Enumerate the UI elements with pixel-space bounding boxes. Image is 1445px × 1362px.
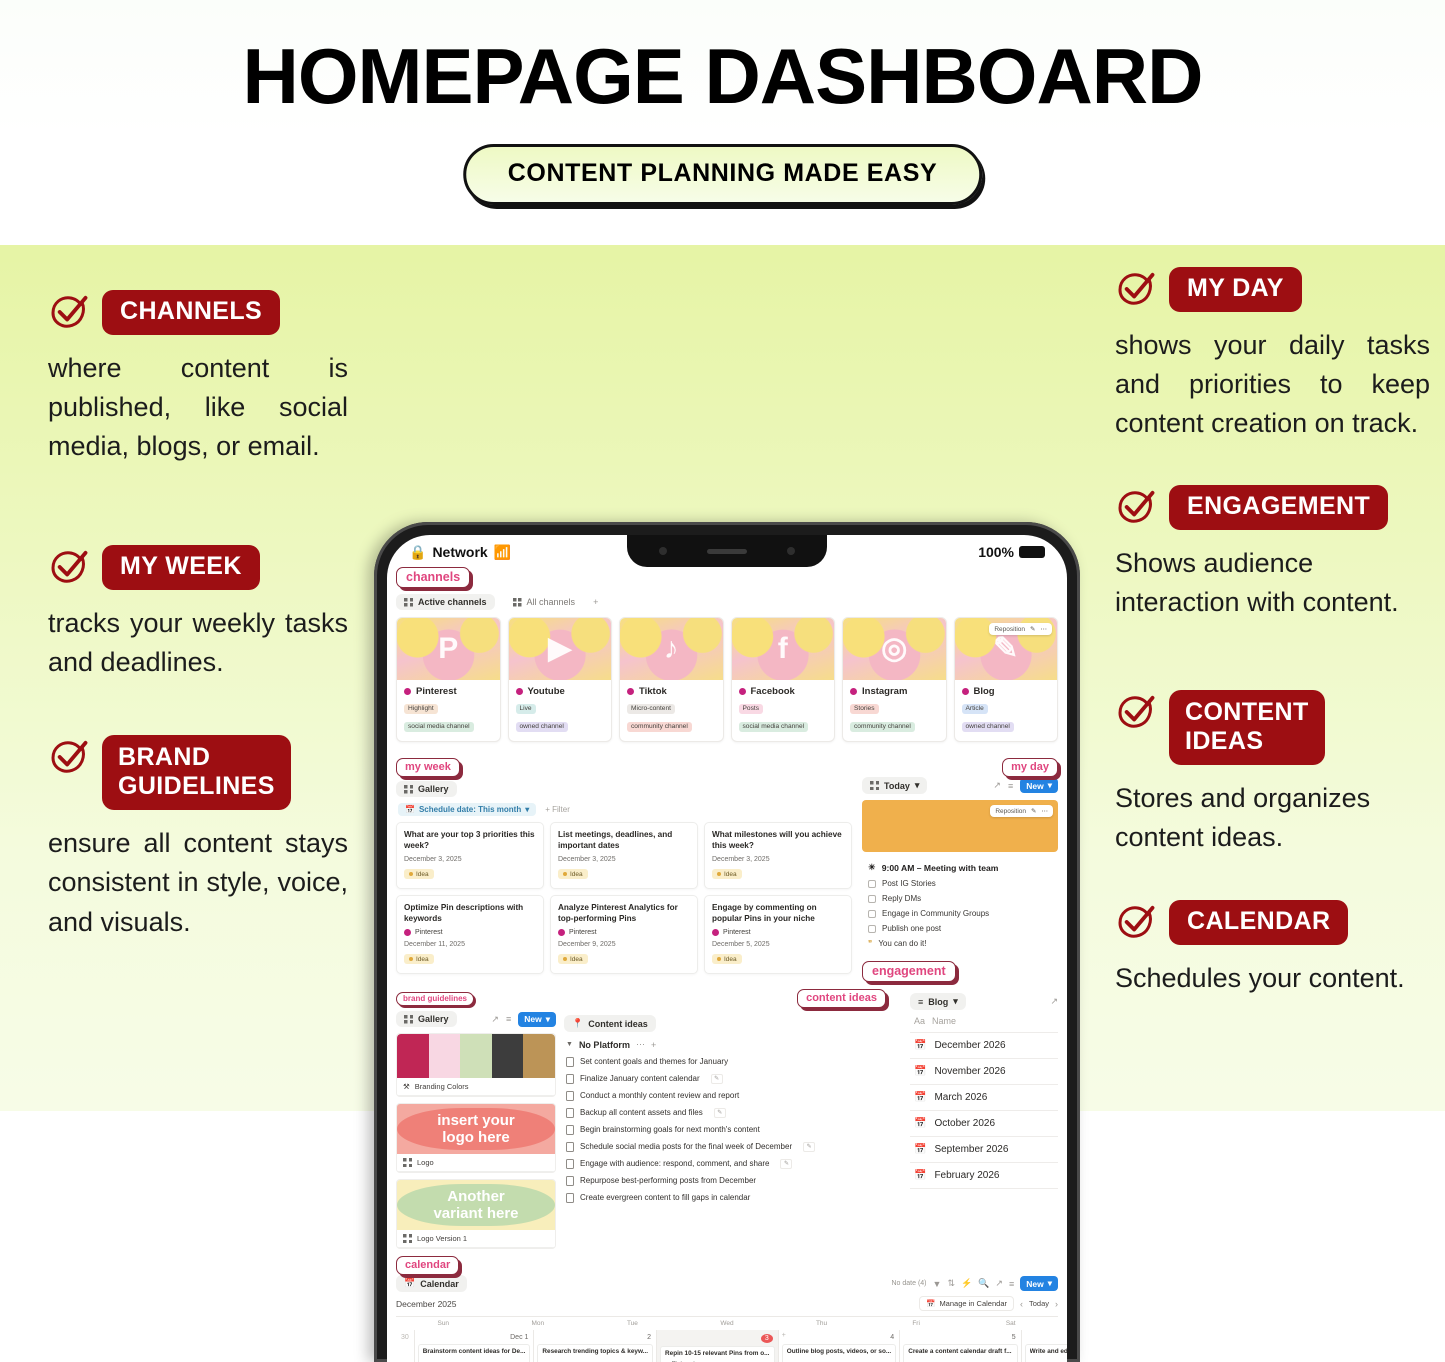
blog-section: ≡ Blog ▾ ↗ Aa Name 📅December 2026📅Novemb… — [910, 988, 1058, 1249]
channel-name: Tiktok — [639, 686, 667, 697]
calendar-grid: SunMonTueWedThuFriSat 30Dec 1 Brainstorm… — [396, 1316, 1058, 1362]
channels-tabbar: Active channels All channels + — [396, 594, 1058, 610]
calendar-event[interactable]: Brainstorm content ideas for De... Idea — [418, 1344, 531, 1362]
content-idea-item[interactable]: Repurpose best-performing posts from Dec… — [566, 1172, 902, 1189]
branding-colors-label: ⚒ Branding Colors — [397, 1078, 555, 1096]
task-card[interactable]: What are your top 3 priorities this week… — [396, 822, 544, 889]
my-week-task-grid: What are your top 3 priorities this week… — [396, 822, 854, 974]
sensor-icon — [787, 547, 795, 555]
feature-engagement: ENGAGEMENT Shows audience interaction wi… — [1115, 485, 1430, 622]
calendar-day-cell[interactable]: 6 Write and edit 2 blog posts or ar... I… — [1022, 1330, 1067, 1362]
new-button-label: New — [1026, 781, 1043, 791]
idea-title: Backup all content assets and files — [580, 1108, 703, 1117]
day-todo-item[interactable]: Post IG Stories — [868, 876, 1052, 891]
event-title: Outline blog posts, videos, or so... — [787, 1348, 891, 1356]
carrier-label: Network — [432, 544, 487, 560]
task-status-badge: Idea — [712, 869, 742, 879]
expand-icon[interactable]: ↗ — [993, 780, 1001, 791]
column-header-label: Name — [932, 1016, 956, 1026]
feature-description: Shows audience interaction with content. — [1115, 544, 1430, 623]
task-title: What are your top 3 priorities this week… — [404, 829, 536, 851]
status-dot-icon — [409, 957, 413, 961]
channel-card[interactable]: ♪ Tiktok Micro-content community channel — [619, 617, 724, 742]
view-calendar[interactable]: 📅 Calendar — [396, 1275, 467, 1292]
add-event-icon[interactable]: + — [782, 1332, 786, 1339]
add-view-icon[interactable]: + — [593, 597, 598, 607]
feature-header: ENGAGEMENT — [1115, 485, 1430, 530]
page-icon — [566, 1091, 574, 1101]
calendar-day-number: 2 — [537, 1333, 653, 1344]
logo-variant-card[interactable]: Another variant here Logo Version 1 — [396, 1179, 556, 1249]
task-title: Optimize Pin descriptions with keywords — [404, 902, 536, 924]
new-button-my-day[interactable]: New ▾ — [1020, 778, 1058, 793]
channel-name-row: Facebook — [739, 686, 828, 697]
prev-period-icon[interactable]: ‹ — [1020, 1299, 1023, 1309]
pencil-icon[interactable]: ✎ — [711, 1074, 723, 1084]
my-week-filterbar: 📅 Schedule date: This month ▾ + Filter — [396, 803, 854, 816]
search-icon[interactable]: 🔍 — [978, 1278, 989, 1289]
grid-icon — [403, 1158, 412, 1167]
pencil-icon[interactable]: ✎ — [803, 1142, 815, 1152]
channel-chip-type: Micro-content — [627, 704, 675, 714]
check-circle-icon — [48, 292, 88, 332]
calendar-dow-label: Wed — [680, 1317, 775, 1330]
expand-icon[interactable]: ↗ — [491, 1014, 499, 1025]
calendar-subheader: December 2025 📅 Manage in Calendar ‹ Tod… — [396, 1296, 1058, 1311]
check-circle-icon — [1115, 902, 1155, 942]
palette-swatch — [397, 1034, 429, 1078]
feature-tag: MY DAY — [1169, 267, 1302, 312]
view-gallery-brand[interactable]: Gallery — [396, 1011, 457, 1027]
calendar-day-number: 30 — [399, 1333, 411, 1344]
feature-header: CONTENTIDEAS — [1115, 690, 1430, 765]
instagram-icon: ◎ — [881, 634, 907, 664]
checkbox-icon[interactable] — [868, 895, 876, 903]
calendar-day-cell[interactable]: 2 Research trending topics & keyw... Ide… — [534, 1330, 657, 1362]
channel-meta: Blog Article owned channel — [955, 680, 1058, 741]
row-title: October 2026 — [934, 1118, 995, 1129]
channel-name: Pinterest — [416, 686, 457, 697]
channel-chip-type: Live — [516, 704, 536, 714]
status-dot-icon — [627, 688, 634, 695]
channel-chip-type: Stories — [850, 704, 879, 714]
calendar-dow-header: SunMonTueWedThuFriSat — [396, 1317, 1058, 1330]
content-idea-item[interactable]: Begin brainstorming goals for next month… — [566, 1121, 902, 1138]
content-idea-item[interactable]: Conduct a monthly content review and rep… — [566, 1087, 902, 1104]
tab-label: All channels — [527, 597, 576, 607]
battery-percent-label: 100% — [978, 544, 1014, 560]
logo-placeholder-text: insert your logo here — [397, 1108, 555, 1151]
facebook-icon: f — [778, 634, 788, 664]
my-day-section: my day Today ▾ ↗ ≡ — [862, 751, 1058, 982]
platform-name: Pinterest — [723, 929, 751, 936]
feature-description: Stores and organizes content ideas. — [1115, 779, 1430, 858]
feature-tag: CHANNELS — [102, 290, 280, 335]
calendar-day-number: 3 — [660, 1333, 775, 1346]
content-idea-item[interactable]: Set content goals and themes for January — [566, 1053, 902, 1070]
day-todo-item[interactable]: Engage in Community Groups — [868, 906, 1052, 921]
tag-line: BRAND — [118, 743, 275, 772]
calendar-icon: 📅 — [405, 805, 415, 814]
new-button-label: New — [524, 1014, 541, 1024]
channel-meta: Facebook Posts social media channel — [732, 680, 835, 741]
page-title: HOMEPAGE DASHBOARD — [0, 36, 1445, 118]
feature-tag: CALENDAR — [1169, 900, 1348, 945]
view-label: Gallery — [418, 784, 449, 794]
sort-icon[interactable]: ≡ — [1008, 781, 1013, 791]
logo-card[interactable]: insert your logo here Logo — [396, 1103, 556, 1173]
sticker-my-day: my day — [1002, 758, 1058, 777]
checkbox-icon[interactable] — [868, 910, 876, 918]
platform-dot-icon — [712, 929, 719, 936]
expand-icon[interactable]: ↗ — [995, 1278, 1003, 1289]
day-todo-item[interactable]: Reply DMs — [868, 891, 1052, 906]
calendar-icon: 📅 — [914, 1040, 926, 1051]
channel-card[interactable]: ✎ Reposition ✎ ⋯ Blog Article owned chan… — [954, 617, 1059, 742]
location-pin-icon: 📍 — [572, 1018, 583, 1029]
check-circle-icon — [48, 547, 88, 587]
calendar-day-number: 4 — [782, 1333, 896, 1344]
task-date: December 5, 2025 — [712, 941, 844, 948]
idea-title: Finalize January content calendar — [580, 1074, 700, 1083]
calendar-dow-label: Thu — [774, 1317, 869, 1330]
calendar-event[interactable]: Create a content calendar draft f... Ide… — [903, 1344, 1017, 1362]
channel-card[interactable]: ◎ Instagram Stories community channel — [842, 617, 947, 742]
group-label: No Platform — [579, 1040, 630, 1050]
status-dot-icon — [717, 872, 721, 876]
manage-in-calendar-button[interactable]: 📅 Manage in Calendar — [919, 1296, 1014, 1311]
grid-icon — [404, 1015, 413, 1024]
channel-chip-category: social media channel — [739, 722, 809, 732]
day-heading: ☀9:00 AM – Meeting with team — [868, 859, 1052, 876]
chevron-down-icon: ▾ — [1048, 1278, 1052, 1289]
palette-swatch — [429, 1034, 461, 1078]
blog-row[interactable]: 📅October 2026 — [910, 1111, 1058, 1137]
content-idea-item[interactable]: Backup all content assets and files✎ — [566, 1104, 902, 1121]
page-icon — [566, 1159, 574, 1169]
calendar-week-row: 30Dec 1 Brainstorm content ideas for De.… — [396, 1330, 1058, 1362]
channel-card[interactable]: P Pinterest Highlight social media chann… — [396, 617, 501, 742]
status-dot-icon — [404, 688, 411, 695]
pencil-icon[interactable]: ✎ — [1030, 625, 1035, 633]
view-label: Calendar — [420, 1279, 459, 1289]
expand-icon[interactable]: ↗ — [1050, 996, 1058, 1007]
calendar-day-cell[interactable]: +4 Outline blog posts, videos, or so... … — [779, 1330, 900, 1362]
status-dot-icon — [516, 688, 523, 695]
reposition-control[interactable]: Reposition ✎ ⋯ — [990, 805, 1053, 817]
grid-icon — [513, 598, 522, 607]
feature-calendar: CALENDAR Schedules your content. — [1115, 900, 1430, 998]
blog-row[interactable]: 📅March 2026 — [910, 1085, 1058, 1111]
task-title: List meetings, deadlines, and important … — [558, 829, 690, 851]
pencil-icon[interactable]: ✎ — [714, 1108, 726, 1118]
tag-line: GUIDELINES — [118, 772, 275, 801]
content-ideas-list: Set content goals and themes for January… — [564, 1053, 902, 1206]
feature-my-day: MY DAY shows your daily tasks and priori… — [1115, 267, 1430, 444]
tag-line: CONTENT — [1185, 698, 1309, 727]
channel-name-row: Youtube — [516, 686, 605, 697]
feature-tag: MY WEEK — [102, 545, 260, 590]
status-dot-icon — [563, 957, 567, 961]
blog-rows: 📅December 2026📅November 2026📅March 2026📅… — [910, 1033, 1058, 1189]
idea-title: Begin brainstorming goals for next month… — [580, 1125, 760, 1134]
calendar-icon: 📅 — [914, 1066, 926, 1077]
sticker-brand-guidelines: brand guidelines — [396, 992, 474, 1007]
add-filter-button[interactable]: + Filter — [545, 805, 570, 814]
task-status-badge: Idea — [558, 954, 588, 964]
more-options-icon[interactable]: ⋯ — [1041, 625, 1048, 633]
feature-description: Schedules your content. — [1115, 959, 1430, 998]
chevron-down-icon: ▾ — [915, 780, 920, 791]
calendar-dow-label: Tue — [585, 1317, 680, 1330]
sun-icon: ☀ — [868, 862, 876, 873]
pencil-icon[interactable]: ✎ — [780, 1159, 792, 1169]
status-dot-icon — [850, 688, 857, 695]
day-todo-item[interactable]: Publish one post — [868, 921, 1052, 936]
content-ideas-group-header[interactable]: ▼ No Platform ⋯ + — [564, 1039, 902, 1050]
task-card[interactable]: Analyze Pinterest Analytics for top-perf… — [550, 895, 698, 974]
main-panel: CHANNELS where content is published, lik… — [0, 245, 1445, 1111]
row-title: September 2026 — [934, 1144, 1008, 1155]
item-label: Reply DMs — [882, 894, 921, 903]
status-dot-icon — [717, 957, 721, 961]
channel-meta: Pinterest Highlight social media channel — [397, 680, 500, 741]
calendar-day-cell[interactable]: Dec 1 Brainstorm content ideas for De...… — [415, 1330, 535, 1362]
page-icon — [566, 1125, 574, 1135]
next-period-icon[interactable]: › — [1055, 1299, 1058, 1309]
my-day-checklist: ☀9:00 AM – Meeting with teamPost IG Stor… — [862, 852, 1058, 957]
check-circle-icon — [48, 737, 88, 777]
calendar-toolbar: 📅 Calendar No date (4) ▼ ⇅ ⚡ 🔍 ↗ ≡ — [396, 1275, 1058, 1292]
feature-my-week: MY WEEK tracks your weekly tasks and dea… — [48, 545, 348, 682]
sticker-channels: channels — [396, 567, 470, 588]
filter-schedule-date[interactable]: 📅 Schedule date: This month ▾ — [398, 803, 536, 816]
idea-title: Engage with audience: respond, comment, … — [580, 1159, 769, 1168]
page-icon — [566, 1074, 574, 1084]
blog-column-header: Aa Name — [910, 1010, 1058, 1033]
calendar-event[interactable]: Repin 10-15 relevant Pins from o... Pint… — [660, 1346, 775, 1362]
calendar-dow-label: Sun — [396, 1317, 491, 1330]
tab-active-channels[interactable]: Active channels — [396, 594, 495, 610]
palette-swatch — [492, 1034, 524, 1078]
task-card[interactable]: List meetings, deadlines, and important … — [550, 822, 698, 889]
status-dot-icon — [563, 872, 567, 876]
channel-meta: Youtube Live owned channel — [509, 680, 612, 741]
grid-icon — [404, 598, 413, 607]
channel-card[interactable]: ▶ Youtube Live owned channel — [508, 617, 613, 742]
lock-icon: 🔒 — [409, 544, 426, 561]
channel-cover: ▶ — [509, 618, 612, 680]
grid-icon — [403, 1234, 412, 1243]
event-title: Research trending topics & keyw... — [542, 1348, 648, 1356]
add-item-icon[interactable]: + — [651, 1040, 656, 1050]
quote-icon: ❞ — [868, 939, 872, 948]
channel-chip-category: social media channel — [404, 722, 474, 732]
task-card[interactable]: What milestones will you achieve this we… — [704, 822, 852, 889]
reposition-control[interactable]: Reposition ✎ ⋯ — [989, 623, 1052, 635]
blog-icon: ✎ — [993, 634, 1018, 664]
channel-cover: ✎ Reposition ✎ ⋯ — [955, 618, 1058, 680]
platform-name: Pinterest — [415, 929, 443, 936]
new-button-brand[interactable]: New ▾ — [518, 1012, 556, 1027]
label-text: Branding Colors — [415, 1082, 469, 1091]
calendar-icon: 📅 — [926, 1299, 935, 1308]
logo-version-label: Logo Version 1 — [397, 1230, 555, 1248]
calendar-dow-label: Fri — [869, 1317, 964, 1330]
blog-row[interactable]: 📅December 2026 — [910, 1033, 1058, 1059]
sticker-my-week: my week — [396, 758, 460, 777]
blog-row[interactable]: 📅February 2026 — [910, 1163, 1058, 1189]
tab-all-channels[interactable]: All channels — [505, 594, 584, 610]
content-idea-item[interactable]: Engage with audience: respond, comment, … — [566, 1155, 902, 1172]
content-idea-item[interactable]: Create evergreen content to fill gaps in… — [566, 1189, 902, 1206]
branding-colors-card[interactable]: ⚒ Branding Colors — [396, 1033, 556, 1097]
calendar-day-cell[interactable]: 5 Create a content calendar draft f... I… — [900, 1330, 1021, 1362]
channel-chip-type: Highlight — [404, 704, 438, 714]
label-text: Logo — [417, 1158, 434, 1167]
chevron-down-icon: ▾ — [546, 1014, 550, 1025]
my-week-section: my week Gallery 📅 Schedule date: This — [396, 751, 854, 982]
feature-header: MY WEEK — [48, 545, 348, 590]
reposition-label: Reposition — [994, 626, 1025, 633]
sort-icon[interactable]: ⇅ — [947, 1278, 955, 1289]
calendar-event[interactable]: Research trending topics & keyw... Idea — [537, 1344, 653, 1362]
checkbox-icon[interactable] — [868, 880, 876, 888]
event-title: Write and edit 2 blog posts or ar... — [1030, 1348, 1067, 1356]
blog-row[interactable]: 📅September 2026 — [910, 1137, 1058, 1163]
channel-cover: ♪ — [620, 618, 723, 680]
calendar-icon: 📅 — [914, 1118, 926, 1129]
content-idea-item[interactable]: Finalize January content calendar✎ — [566, 1070, 902, 1087]
logo-placeholder-variant: Another variant here — [397, 1180, 555, 1230]
blog-row[interactable]: 📅November 2026 — [910, 1059, 1058, 1085]
platform-dot-icon — [558, 929, 565, 936]
calendar-day-cell[interactable]: 3 Repin 10-15 relevant Pins from o... Pi… — [657, 1330, 779, 1362]
task-platform: Pinterest — [404, 929, 536, 936]
calendar-day-number: 5 — [903, 1333, 1017, 1344]
row-title: November 2026 — [934, 1066, 1005, 1077]
content-ideas-section: content ideas 📍 Content ideas ▼ No Platf… — [564, 988, 902, 1249]
channel-chip-category: owned channel — [962, 722, 1014, 732]
calendar-icon: 📅 — [404, 1278, 415, 1289]
calendar-icon: 📅 — [914, 1144, 926, 1155]
channel-chip-type: Article — [962, 704, 988, 714]
brand-toolbar: Gallery ↗ ≡ New ▾ — [396, 1011, 556, 1027]
platform-dot-icon — [404, 929, 411, 936]
view-label: Blog — [928, 997, 948, 1007]
new-button-calendar[interactable]: New ▾ — [1020, 1276, 1058, 1291]
brand-guidelines-section: brand guidelines Gallery ↗ ≡ New — [396, 988, 556, 1249]
sticker-calendar: calendar — [396, 1256, 459, 1275]
youtube-icon: ▶ — [548, 634, 571, 664]
feature-description: tracks your weekly tasks and deadlines. — [48, 604, 348, 683]
view-label: Gallery — [418, 1014, 449, 1024]
page-icon — [566, 1142, 574, 1152]
filter-icon[interactable]: ▼ — [933, 1279, 942, 1289]
logo-placeholder-primary: insert your logo here — [397, 1104, 555, 1154]
channel-name: Facebook — [751, 686, 795, 697]
item-label: Publish one post — [882, 924, 941, 933]
chevron-down-icon: ▾ — [1048, 780, 1052, 791]
task-platform: Pinterest — [558, 929, 690, 936]
feature-header: CHANNELS — [48, 290, 348, 335]
calendar-event[interactable]: Write and edit 2 blog posts or ar... Ide… — [1025, 1344, 1067, 1362]
status-dot-icon — [739, 688, 746, 695]
status-dot-icon — [962, 688, 969, 695]
logo-label: Logo — [397, 1154, 555, 1172]
grid-icon — [870, 781, 879, 790]
logo-variant-text: Another variant here — [397, 1184, 555, 1227]
filter-label: Schedule date: This month — [419, 805, 521, 814]
earpiece-speaker-icon — [707, 549, 747, 554]
channel-name: Youtube — [528, 686, 565, 697]
more-options-icon[interactable]: ⋯ — [636, 1039, 645, 1050]
view-gallery-my-week[interactable]: Gallery — [396, 781, 457, 797]
no-date-label[interactable]: No date (4) — [891, 1280, 926, 1287]
page-icon — [566, 1108, 574, 1118]
my-day-toolbar: Today ▾ ↗ ≡ New ▾ — [862, 777, 1058, 794]
lower-section: brand guidelines Gallery ↗ ≡ New — [396, 988, 1058, 1249]
idea-title: Create evergreen content to fill gaps in… — [580, 1193, 750, 1202]
channel-name-row: Pinterest — [404, 686, 493, 697]
task-date: December 11, 2025 — [404, 941, 536, 948]
list-icon: ≡ — [918, 997, 923, 1007]
channel-card[interactable]: f Facebook Posts social media channel — [731, 617, 836, 742]
sticker-engagement: engagement — [862, 961, 956, 982]
lightning-icon[interactable]: ⚡ — [961, 1278, 972, 1289]
palette-swatch — [523, 1034, 555, 1078]
task-card[interactable]: Engage by commenting on popular Pins in … — [704, 895, 852, 974]
idea-title: Repurpose best-performing posts from Dec… — [580, 1176, 756, 1185]
content-idea-item[interactable]: Schedule social media posts for the fina… — [566, 1138, 902, 1155]
calendar-event[interactable]: Outline blog posts, videos, or so... Ide… — [782, 1344, 896, 1362]
phone-notch — [627, 535, 827, 567]
blog-toolbar: ≡ Blog ▾ ↗ — [910, 993, 1058, 1010]
feature-tag: ENGAGEMENT — [1169, 485, 1388, 530]
channel-meta: Tiktok Micro-content community channel — [620, 680, 723, 741]
event-title: Brainstorm content ideas for De... — [423, 1348, 526, 1356]
color-palette — [397, 1034, 555, 1078]
day-quote: ❞You can do it! — [868, 936, 1052, 951]
more-options-icon[interactable]: ⋯ — [1042, 807, 1049, 815]
reposition-label: Reposition — [995, 808, 1026, 815]
view-blog[interactable]: ≡ Blog ▾ — [910, 993, 966, 1010]
chevron-down-icon[interactable]: ▼ — [566, 1041, 573, 1048]
channel-name: Blog — [974, 686, 995, 697]
today-button[interactable]: Today — [1029, 1299, 1049, 1308]
new-button-label: New — [1026, 1279, 1043, 1289]
checkbox-icon[interactable] — [868, 925, 876, 933]
tag-line: IDEAS — [1185, 727, 1309, 756]
sort-icon[interactable]: ≡ — [506, 1014, 511, 1024]
channel-name-row: Tiktok — [627, 686, 716, 697]
row-title: December 2026 — [934, 1040, 1005, 1051]
more-options-icon[interactable]: ≡ — [1009, 1279, 1014, 1289]
calendar-day-cell[interactable]: 30 — [396, 1330, 415, 1362]
view-content-ideas[interactable]: 📍 Content ideas — [564, 1015, 656, 1032]
calendar-month-label: December 2025 — [396, 1299, 456, 1309]
item-label: 9:00 AM – Meeting with team — [882, 863, 999, 873]
view-today[interactable]: Today ▾ — [862, 777, 927, 794]
phone-screen: 🔒 Network 📶 100% channels Activ — [387, 535, 1067, 1362]
task-date: December 3, 2025 — [404, 856, 536, 863]
label-text: Logo Version 1 — [417, 1234, 467, 1243]
task-card[interactable]: Optimize Pin descriptions with keywords … — [396, 895, 544, 974]
channel-name-row: Blog — [962, 686, 1051, 697]
pencil-icon[interactable]: ✎ — [1031, 807, 1036, 815]
idea-title: Set content goals and themes for January — [580, 1057, 728, 1066]
manage-label: Manage in Calendar — [939, 1299, 1007, 1308]
